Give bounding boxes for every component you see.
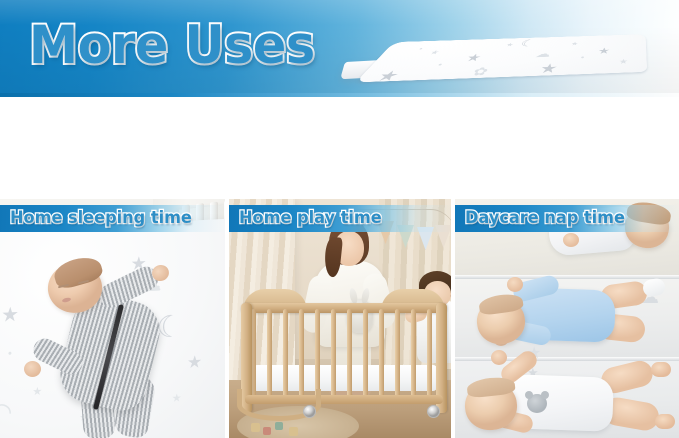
crib-slat [267,309,272,397]
header-banner: ★ ★ ★ ★ ★ ★ ★ ★ ☾ ☁ ✿ ● ● ● More Uses [0,0,679,97]
toy-block [263,427,271,435]
crib-caster [303,405,316,418]
mat-seam [455,275,679,279]
star-icon: ★ [187,352,203,373]
baby-hand-left [491,350,507,365]
crib-mattress [253,365,437,391]
baby-swaddle-blanket [547,205,637,256]
baby-foot [651,362,671,377]
baby-hand-right [24,361,41,377]
baby-sock [642,277,667,298]
crib-slat [315,309,320,397]
napping-baby-middle [469,281,675,359]
crib-slat [347,309,352,397]
crib-mattress-product-image: ★ ★ ★ ★ ★ ★ ★ ★ ☾ ☁ ✿ ● ● ● [334,7,666,93]
crib-slat [331,309,336,397]
swirl-icon: ◠ [0,396,13,428]
panel-home-play[interactable]: Home play time [229,199,451,438]
panel-daycare-nap[interactable]: ★ ☁ ★ ★ ★ [455,199,679,438]
napping-baby-bottom [461,362,679,438]
wooden-crib [241,289,447,419]
crib-slat [395,309,400,397]
page-title: More Uses [29,17,315,74]
baby-foot [655,414,675,429]
mattress-top-surface [355,34,647,82]
bear-ear-icon [525,391,533,399]
crib-slat [299,309,304,397]
crib-slat [427,309,432,397]
dot-icon: ● [8,350,12,357]
toy-block [289,427,298,436]
crib-slat [283,309,288,397]
baby-hand-left [507,277,523,292]
bear-ear-icon [541,391,549,399]
crib-caster [427,405,440,418]
crib-slat [411,309,416,397]
crib-slat [363,309,368,397]
toy-block [275,422,283,430]
use-case-panel-row: ★ ★ ★ ☾ ★ ★ ★ ● ☁ ◠ [0,199,679,438]
white-spacer [0,97,679,199]
baby-hand [563,233,579,247]
star-icon: ★ [1,302,20,328]
panel-home-sleeping[interactable]: ★ ★ ★ ☾ ★ ★ ★ ● ☁ ◠ [0,199,225,438]
sleeping-baby [22,257,182,437]
product-infographic: ★ ★ ★ ★ ★ ★ ★ ★ ☾ ☁ ✿ ● ● ● More Uses [0,0,679,438]
napping-baby-top [547,199,675,259]
toy-block [251,423,260,432]
crib-slat [379,309,384,397]
